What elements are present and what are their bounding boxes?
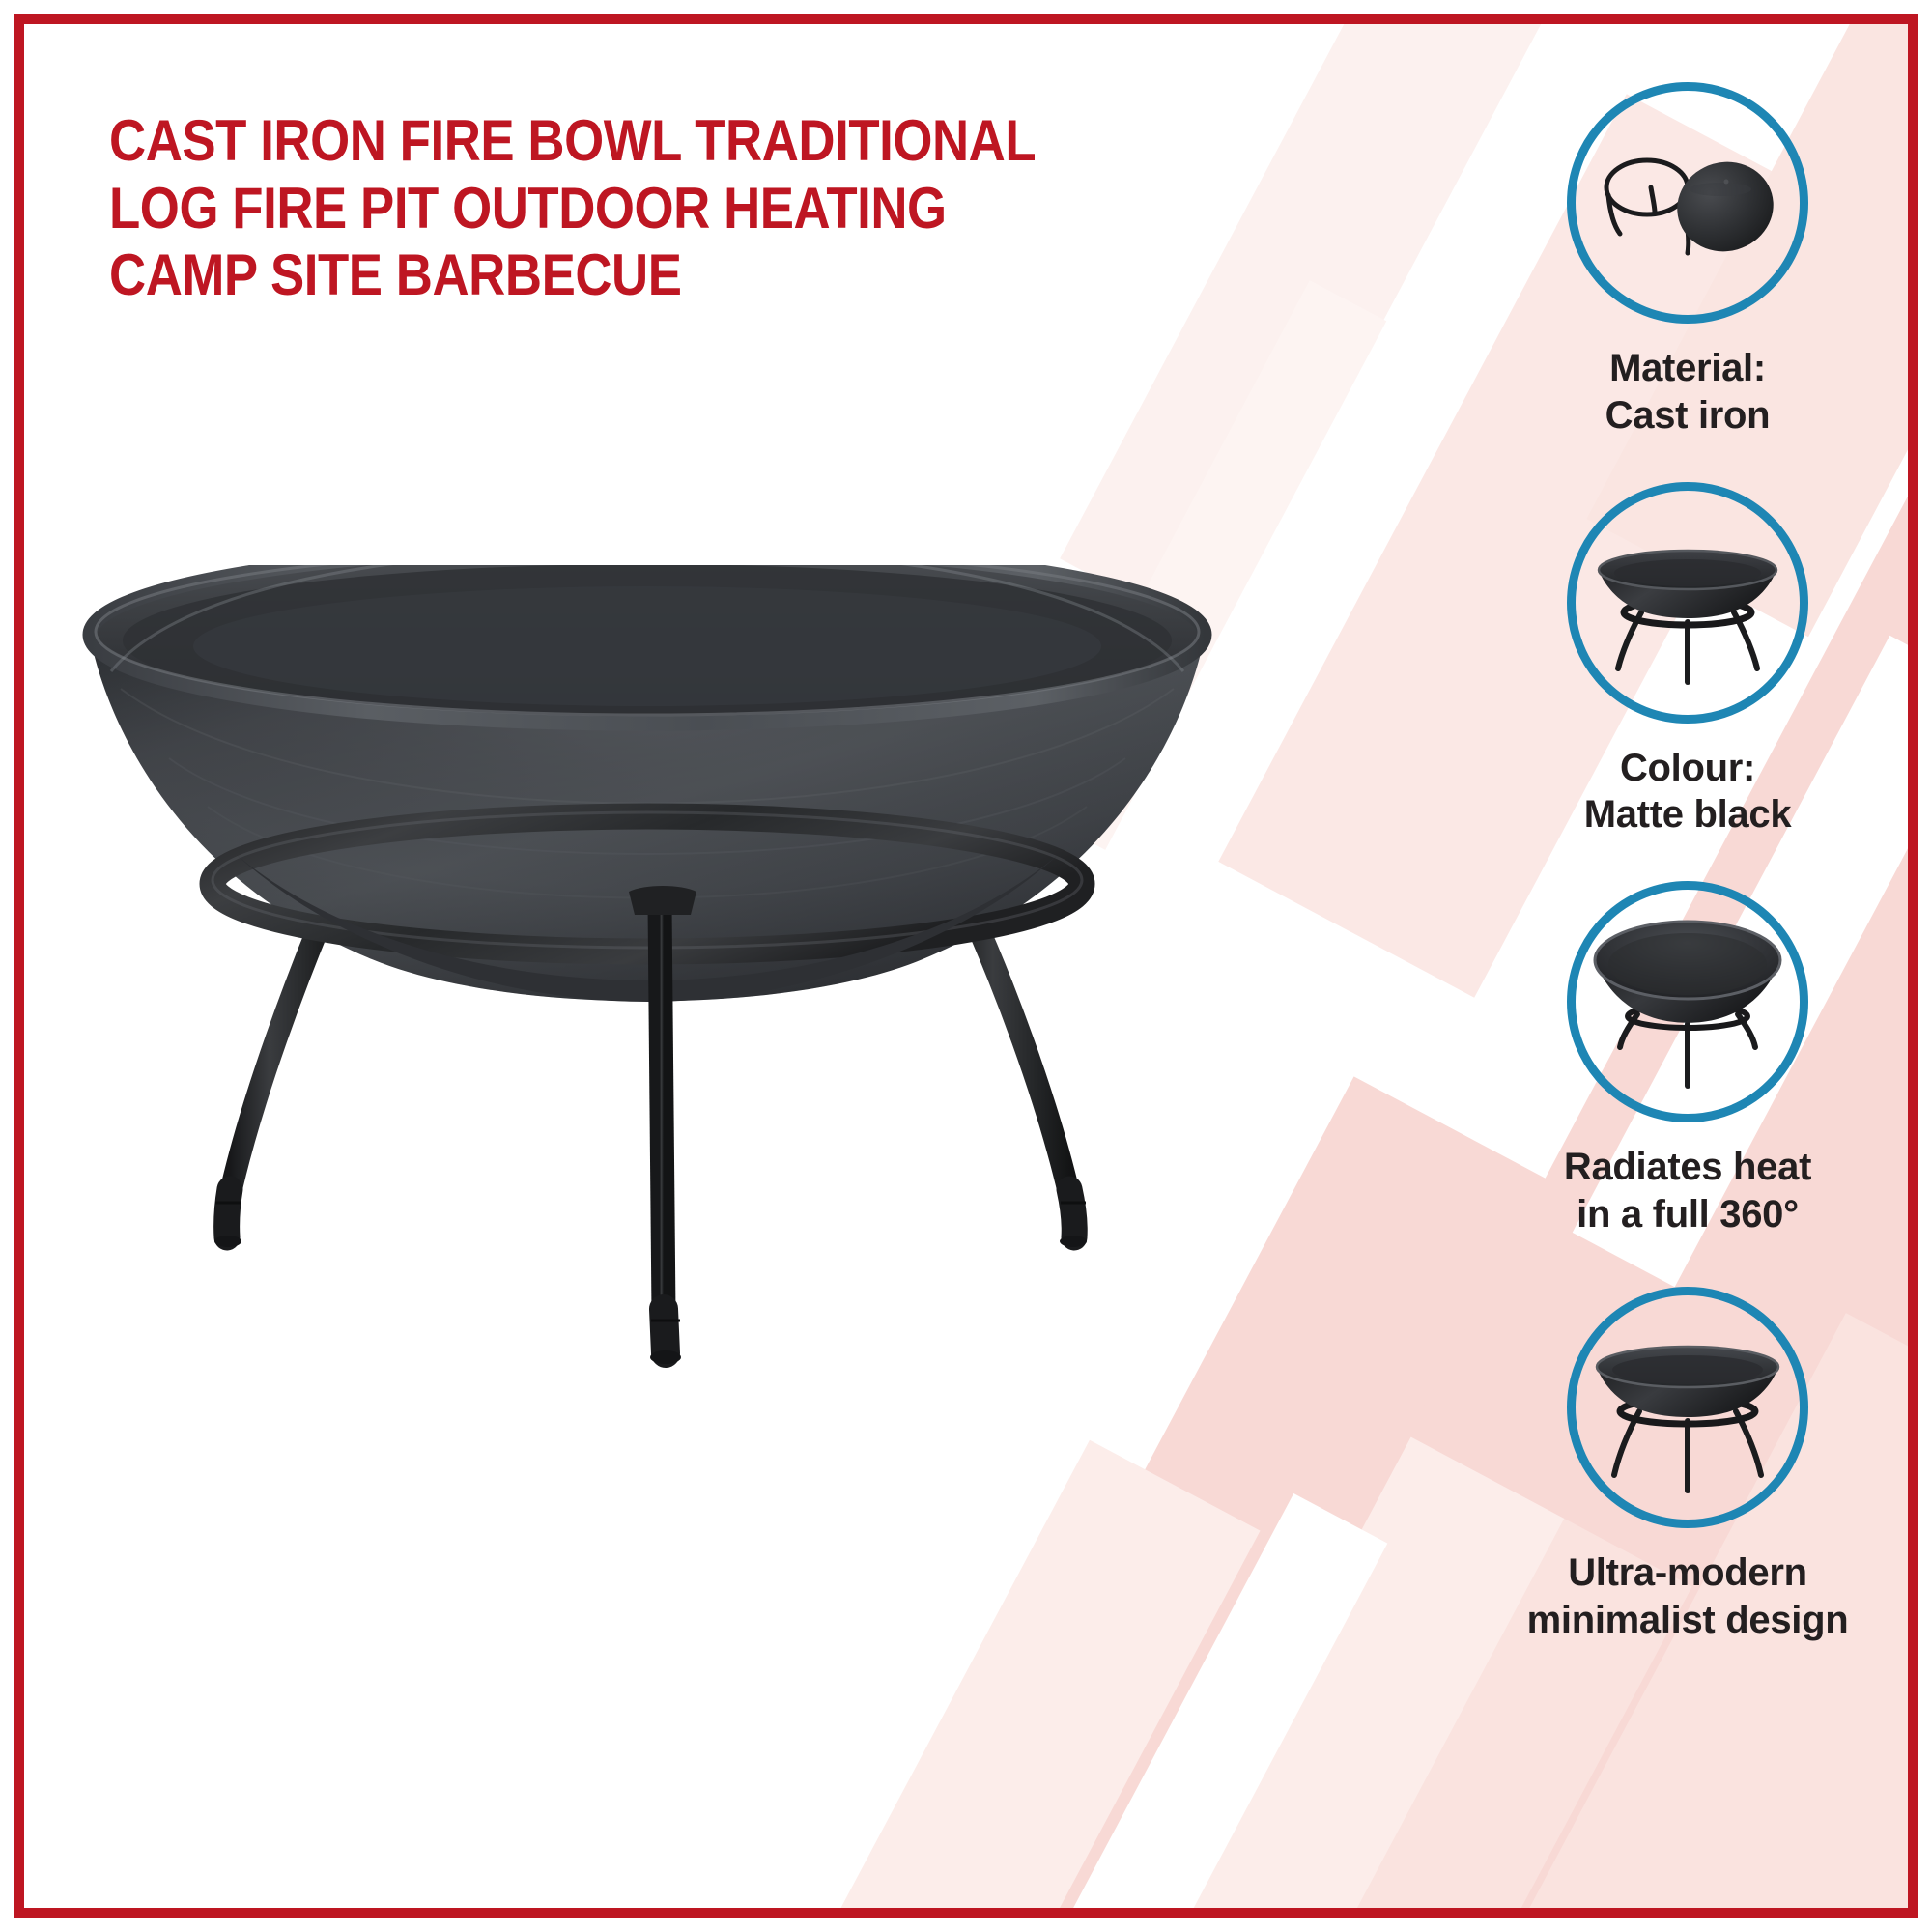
product-title: CAST IRON FIRE BOWL TRADITIONAL LOG FIRE…: [109, 107, 1062, 309]
product-listing-image: CAST IRON FIRE BOWL TRADITIONAL LOG FIRE…: [0, 0, 1932, 1932]
feature-caption: Ultra-modern minimalist design: [1527, 1549, 1849, 1644]
feature-item-material: Material: Cast iron: [1485, 82, 1890, 440]
hero-product-image: [53, 565, 1241, 1435]
stripe-shape: [1060, 24, 1558, 640]
feature-caption: Material: Cast iron: [1605, 345, 1771, 440]
fire-bowl-disassembled-icon: [1591, 106, 1784, 299]
feature-badge-circle: [1567, 482, 1808, 724]
feature-item-heat: Radiates heat in a full 360°: [1485, 881, 1890, 1238]
image-inner-area: CAST IRON FIRE BOWL TRADITIONAL LOG FIRE…: [24, 24, 1908, 1908]
feature-badge-circle: [1567, 881, 1808, 1122]
feature-badge-circle: [1567, 1287, 1808, 1528]
feature-item-design: Ultra-modern minimalist design: [1485, 1287, 1890, 1644]
stripe-shape: [931, 1493, 1388, 1908]
fire-bowl-top-angle-icon: [1581, 900, 1794, 1103]
feature-caption: Radiates heat in a full 360°: [1564, 1144, 1811, 1238]
fire-bowl-side-view-icon: [1581, 506, 1794, 699]
fire-bowl-front-view-icon: [1581, 1311, 1794, 1504]
red-border-frame: CAST IRON FIRE BOWL TRADITIONAL LOG FIRE…: [14, 14, 1918, 1918]
feature-caption: Colour: Matte black: [1584, 745, 1792, 839]
feature-item-colour: Colour: Matte black: [1485, 482, 1890, 839]
feature-badge-circle: [1567, 82, 1808, 324]
feature-rail: Material: Cast iron: [1485, 82, 1890, 1653]
stripe-shape: [681, 1440, 1260, 1908]
